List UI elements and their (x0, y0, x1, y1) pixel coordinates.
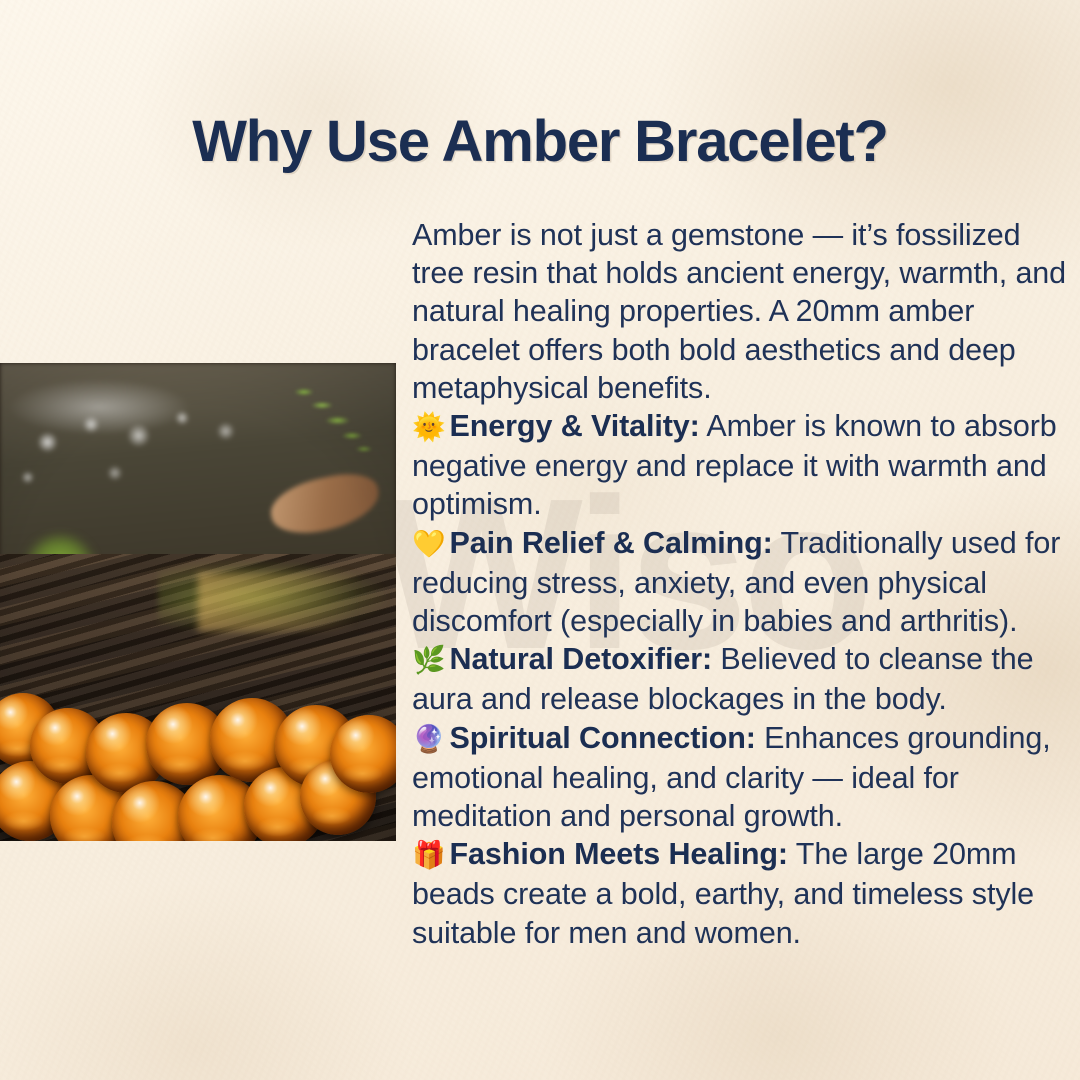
gift-icon: 🎁 (412, 840, 446, 871)
product-photo (0, 363, 396, 841)
intro-paragraph: Amber is not just a gemstone — it’s foss… (412, 216, 1080, 407)
feature-label: Pain Relief & Calming: (450, 526, 773, 560)
feature-item: 🌞Energy & Vitality: Amber is known to ab… (412, 407, 1080, 524)
feature-item: 🎁Fashion Meets Healing: The large 20mm b… (412, 835, 1080, 952)
feature-item: 🌿Natural Detoxifier: Believed to cleanse… (412, 640, 1080, 718)
page-title: Why Use Amber Bracelet? (0, 108, 1080, 175)
feature-list: 🌞Energy & Vitality: Amber is known to ab… (412, 407, 1080, 952)
feature-item: 🔮Spiritual Connection: Enhances groundin… (412, 719, 1080, 836)
feature-label: Energy & Vitality: (450, 409, 700, 443)
feature-label: Spiritual Connection: (450, 721, 756, 755)
feature-label: Natural Detoxifier: (450, 642, 713, 676)
herb-icon: 🌿 (412, 645, 446, 676)
feature-label: Fashion Meets Healing: (450, 837, 788, 871)
feature-item: 💛Pain Relief & Calming: Traditionally us… (412, 524, 1080, 641)
crystal-ball-icon: 🔮 (412, 724, 446, 755)
sun-with-face-icon: 🌞 (412, 412, 446, 443)
body-copy: Amber is not just a gemstone — it’s foss… (412, 216, 1080, 952)
yellow-heart-icon: 💛 (412, 529, 446, 560)
